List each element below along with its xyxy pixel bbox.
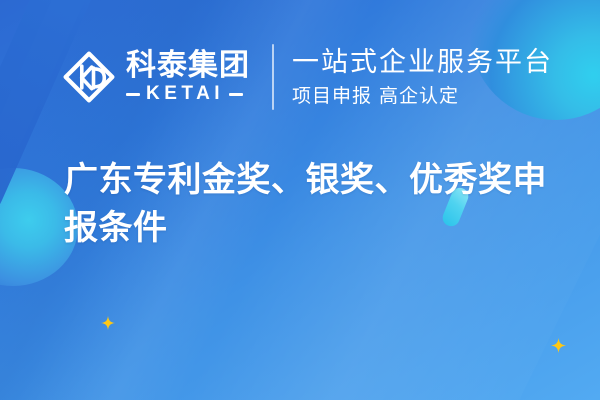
- logo-company-name-en: KETAI: [146, 84, 224, 104]
- sparkle-icon-bottom-right: [551, 338, 566, 353]
- logo-rule-right: [229, 93, 243, 96]
- tagline-block: 一站式企业服务平台 项目申报 高企认定: [292, 46, 553, 109]
- header-divider: [272, 44, 274, 110]
- logo-company-name-cn: 科泰集团: [126, 50, 250, 82]
- ketai-logo: 科泰集团 KETAI: [62, 50, 250, 104]
- tagline-sub: 项目申报 高企认定: [292, 83, 553, 109]
- ketai-diamond-kd-monogram-icon: [62, 50, 116, 104]
- page-title: 广东专利金奖、银奖、优秀奖申报条件: [64, 156, 556, 252]
- logo-english-row: KETAI: [126, 84, 250, 104]
- tagline-main: 一站式企业服务平台: [292, 46, 553, 80]
- promo-banner: 科泰集团 KETAI 一站式企业服务平台 项目申报 高企认定 广东专利金奖、银奖…: [0, 0, 600, 400]
- banner-header: 科泰集团 KETAI 一站式企业服务平台 项目申报 高企认定: [62, 38, 553, 116]
- sparkle-icon-bottom-left: [101, 316, 115, 330]
- logo-wordmark: 科泰集团 KETAI: [126, 50, 250, 104]
- logo-rule-left: [126, 93, 140, 96]
